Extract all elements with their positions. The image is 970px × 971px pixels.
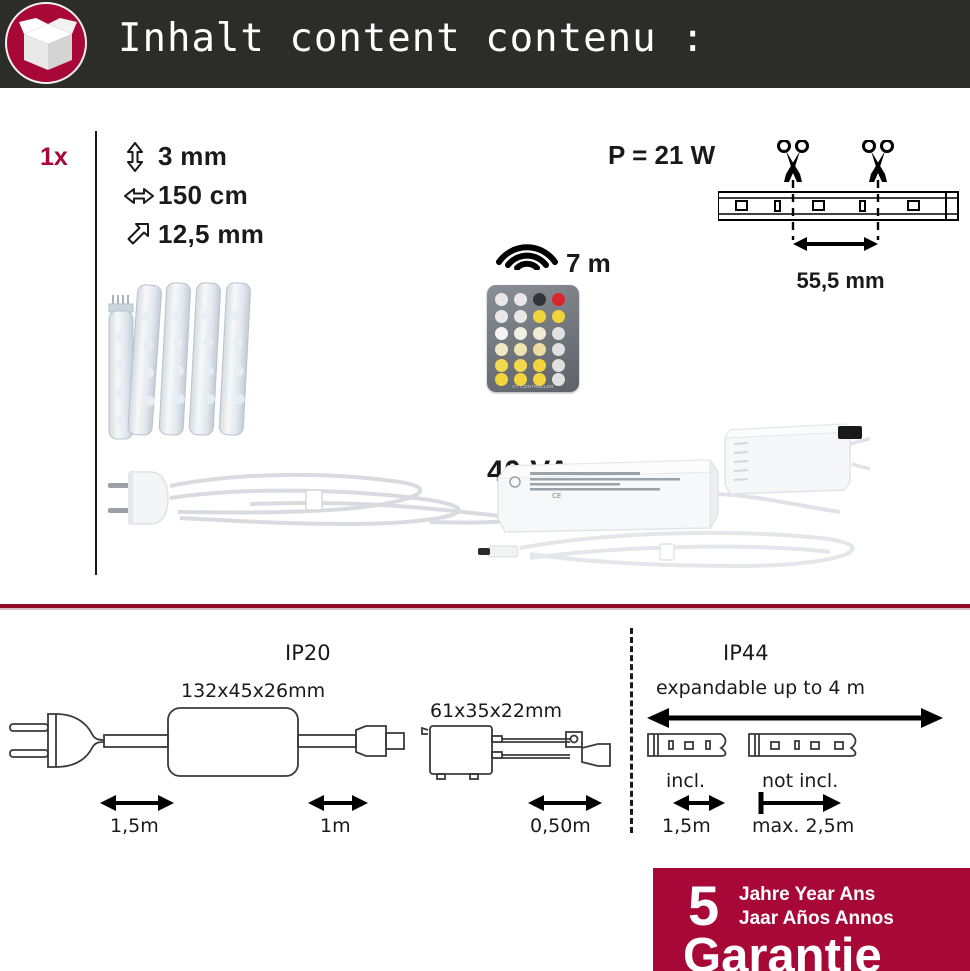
- spec-row-height: 3 mm: [124, 140, 264, 173]
- power-label: P = 21 W: [608, 140, 715, 171]
- open-box-icon: [5, 2, 87, 84]
- expandable-label: expandable up to 4 m: [656, 677, 865, 699]
- section-divider-highlight: [0, 608, 970, 610]
- remote-button-preset-5: [514, 343, 527, 356]
- not-incl-label: not incl.: [762, 770, 838, 792]
- svg-text:CE: CE: [552, 492, 561, 500]
- remote-button-power-off: [533, 293, 546, 306]
- remote-button-preset-3: [533, 327, 546, 340]
- ip44-max-length: max. 2,5m: [752, 815, 854, 837]
- remote-button-preset-8: [514, 359, 527, 372]
- remote-button-mode-3: [552, 359, 565, 372]
- remote-button-preset-9: [533, 359, 546, 372]
- remote-button-preset-6: [533, 343, 546, 356]
- spec-list: 3 mm 150 cm 12,5 mm: [124, 140, 264, 257]
- page-title: Inhalt content contenu :: [118, 16, 706, 61]
- ip20-length-arrows: [0, 790, 630, 816]
- remote-button-preset-7: [495, 359, 508, 372]
- remote-button-warm-minus: [552, 310, 565, 323]
- guarantee-badge: 5 Jahre Year Ans Jaar Años Annos Garanti…: [653, 868, 970, 971]
- driver-size-label: 132x45x26mm: [181, 680, 325, 702]
- spec-row-diagonal: 12,5 mm: [124, 218, 264, 251]
- ip44-title: IP44: [723, 641, 769, 665]
- guarantee-line-2: Jaar Años Annos: [739, 908, 894, 930]
- product-content-sheet: Inhalt content contenu : 1x 3 mm 150 cm: [0, 0, 970, 971]
- ip-section-separator: [630, 628, 633, 833]
- cuttable-strip-diagram: 55,5 mm: [718, 140, 963, 300]
- ip44-strip-segments: [645, 726, 965, 770]
- quantity-label: 1x: [40, 143, 68, 172]
- range-label: 7 m: [566, 248, 611, 279]
- remote-button-mode-2: [552, 343, 565, 356]
- ip44-length-arrows: [645, 790, 965, 816]
- guarantee-word: Garantie: [683, 928, 882, 971]
- incl-label: incl.: [666, 770, 705, 792]
- remote-control: CT CONTROLLER: [487, 285, 579, 392]
- header-bar: Inhalt content contenu :: [0, 0, 970, 88]
- ip20-length-3: 0,50m: [530, 815, 591, 837]
- remote-button-preset-1: [495, 327, 508, 340]
- remote-button-mode-1: [552, 327, 565, 340]
- scissors-icon: [864, 141, 893, 183]
- wireless-range-icon: [495, 228, 559, 275]
- remote-button-preset-4: [495, 343, 508, 356]
- ip20-length-2: 1m: [320, 815, 351, 837]
- remote-button-brightness-down: [495, 293, 508, 306]
- remote-button-power-on: [552, 293, 565, 306]
- diagonal-arrow-icon: [124, 222, 158, 248]
- scissors-icon: [779, 141, 808, 183]
- spec-value-width: 150 cm: [158, 180, 248, 211]
- ip44-incl-length: 1,5m: [662, 815, 711, 837]
- remote-button-brightness-up: [514, 293, 527, 306]
- remote-model-label: CT CONTROLLER: [487, 384, 579, 389]
- power-supply-assembly: CE: [100, 420, 870, 575]
- section-vertical-rule: [95, 131, 97, 575]
- height-arrow-icon: [124, 142, 158, 172]
- guarantee-years: 5: [688, 878, 719, 934]
- remote-button-preset-2: [514, 327, 527, 340]
- ip20-length-1: 1,5m: [110, 815, 159, 837]
- remote-button-warm-plus: [533, 310, 546, 323]
- remote-button-white-plus: [495, 310, 508, 323]
- cut-interval-label: 55,5 mm: [718, 268, 963, 294]
- spec-value-diagonal: 12,5 mm: [158, 219, 264, 250]
- remote-button-white-minus: [514, 310, 527, 323]
- spec-row-width: 150 cm: [124, 179, 264, 212]
- guarantee-line-1: Jahre Year Ans: [739, 884, 875, 906]
- header-underline: [0, 88, 970, 91]
- width-arrow-icon: [124, 185, 158, 207]
- spec-value-height: 3 mm: [158, 141, 227, 172]
- ip20-title: IP20: [285, 641, 331, 665]
